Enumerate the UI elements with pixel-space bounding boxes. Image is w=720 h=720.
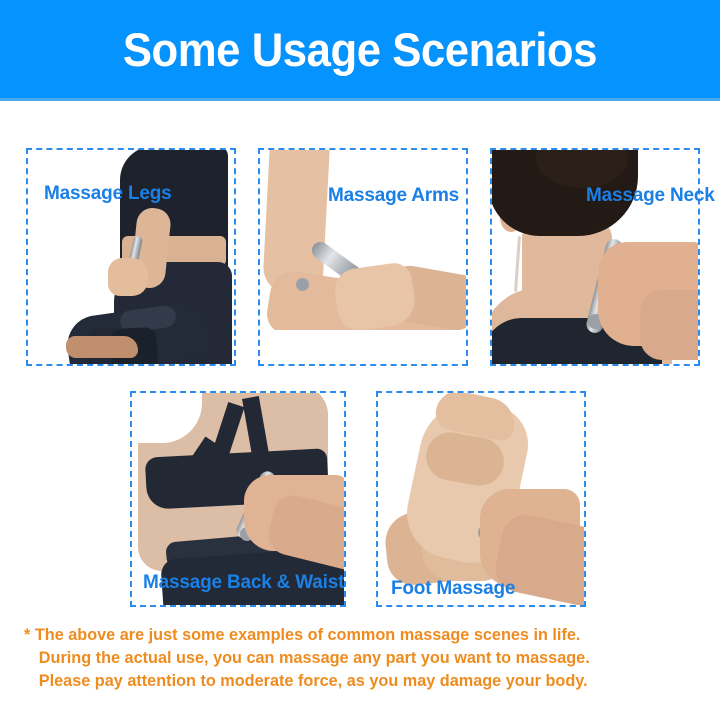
footer-line-1: * The above are just some examples of co… [24,624,690,647]
footer-note: * The above are just some examples of co… [24,624,700,693]
massage-neck-photo [492,150,698,364]
page-title: Some Usage Scenarios [123,22,597,77]
massage-arms-photo [260,150,466,364]
footer-line-3: Please pay attention to moderate force, … [24,670,690,693]
footer-line-2: During the actual use, you can massage a… [24,647,690,670]
scenario-panel-massage-neck [490,148,700,366]
foot-massage-photo [378,393,584,605]
scenario-label-foot-massage: Foot Massage [391,578,515,600]
scenario-label-massage-neck: Massage Neck [586,185,715,207]
scenario-label-massage-arms: Massage Arms [328,185,459,207]
scenario-label-massage-back-waist: Massage Back & Waist [143,572,344,594]
header-banner: Some Usage Scenarios [0,0,720,98]
scenario-panel-foot-massage [376,391,586,607]
scenario-label-massage-legs: Massage Legs [44,183,172,205]
scenario-panel-massage-arms [258,148,468,366]
scenario-panel-massage-legs [26,148,236,366]
header-divider [0,98,720,101]
